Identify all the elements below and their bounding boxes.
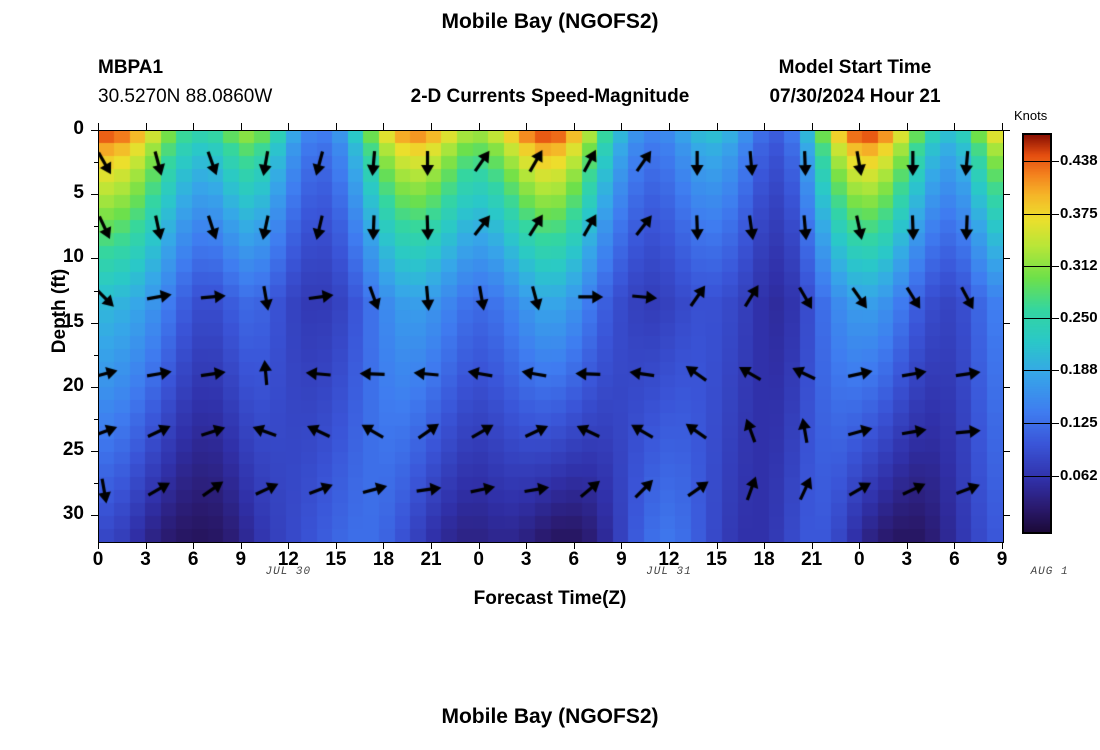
y-axis-tick-right: [1003, 323, 1010, 324]
y-axis-tick-label: 15: [40, 311, 84, 333]
colorbar-gradient: [1024, 135, 1050, 532]
x-axis-tick: [669, 542, 670, 549]
model-start-time-value: 07/30/2024 Hour 21: [700, 86, 1010, 108]
page-title: Mobile Bay (NGOFS2): [0, 10, 1100, 34]
y-axis-tick-right: [1003, 194, 1010, 195]
y-axis-tick-right: [1003, 387, 1010, 388]
x-axis-tick-top: [859, 123, 860, 130]
y-axis-minor-tick: [94, 226, 98, 227]
x-axis-tick-top: [383, 123, 384, 130]
x-axis-date-label: AUG 1: [1005, 566, 1095, 578]
colorbar-divider: [1024, 266, 1050, 267]
x-axis-tick-top: [574, 123, 575, 130]
colorbar-divider: [1024, 161, 1050, 162]
colorbar-tick: [1050, 214, 1059, 215]
x-axis-tick-top: [717, 123, 718, 130]
y-axis-minor-tick: [94, 291, 98, 292]
x-axis-title: Forecast Time(Z): [98, 588, 1002, 610]
x-axis-tick-top: [1002, 123, 1003, 130]
x-axis-tick-label: 3: [126, 549, 166, 571]
x-axis-tick-label: 6: [934, 549, 974, 571]
station-id-label: MBPA1: [98, 57, 163, 79]
x-axis-tick: [764, 542, 765, 549]
x-axis-tick-top: [241, 123, 242, 130]
x-axis-tick-label: 6: [554, 549, 594, 571]
y-axis-tick-label: 30: [40, 503, 84, 525]
colorbar-tick: [1050, 318, 1059, 319]
colorbar: [1022, 133, 1052, 534]
x-axis-tick: [812, 542, 813, 549]
colorbar-tick: [1050, 161, 1059, 162]
y-axis-minor-tick: [94, 483, 98, 484]
x-axis-tick: [907, 542, 908, 549]
footer-title: Mobile Bay (NGOFS2): [0, 705, 1100, 729]
colorbar-tick: [1050, 370, 1059, 371]
colorbar-tick-label: 0.375: [1060, 205, 1098, 222]
y-axis-tick-right: [1003, 515, 1010, 516]
colorbar-tick-label: 0.438: [1060, 152, 1098, 169]
y-axis-tick-label: 25: [40, 439, 84, 461]
x-axis-tick-label: 0: [839, 549, 879, 571]
x-axis-tick-label: 3: [506, 549, 546, 571]
x-axis-date-label: JUL 31: [624, 566, 714, 578]
colorbar-tick-label: 0.250: [1060, 309, 1098, 326]
x-axis-tick: [954, 542, 955, 549]
speed-magnitude-heatmap: [99, 131, 1003, 542]
x-axis-tick-top: [526, 123, 527, 130]
y-axis-tick: [91, 258, 98, 259]
x-axis-tick-top: [954, 123, 955, 130]
x-axis-tick-top: [146, 123, 147, 130]
colorbar-tick-label: 0.188: [1060, 361, 1098, 378]
y-axis-tick: [91, 451, 98, 452]
colorbar-tick: [1050, 476, 1059, 477]
y-axis-tick-right: [1003, 258, 1010, 259]
y-axis-tick: [91, 387, 98, 388]
colorbar-tick: [1050, 266, 1059, 267]
x-axis-tick-top: [907, 123, 908, 130]
colorbar-tick-label: 0.312: [1060, 257, 1098, 274]
x-axis-tick: [526, 542, 527, 549]
y-axis-minor-tick: [94, 419, 98, 420]
y-axis-tick-label: 5: [40, 182, 84, 204]
x-axis-tick-label: 6: [173, 549, 213, 571]
y-axis-minor-tick: [94, 355, 98, 356]
x-axis-tick-label: 18: [744, 549, 784, 571]
x-axis-tick: [1002, 542, 1003, 549]
x-axis-date-label: JUL 30: [243, 566, 333, 578]
x-axis-tick-top: [336, 123, 337, 130]
x-axis-tick: [431, 542, 432, 549]
x-axis-tick-top: [193, 123, 194, 130]
y-axis-tick: [91, 515, 98, 516]
x-axis-tick-label: 0: [78, 549, 118, 571]
y-axis-tick-label: 20: [40, 375, 84, 397]
x-axis-tick: [621, 542, 622, 549]
x-axis-tick-top: [431, 123, 432, 130]
x-axis-tick: [383, 542, 384, 549]
y-axis-minor-tick: [94, 162, 98, 163]
x-axis-tick-label: 18: [363, 549, 403, 571]
x-axis-tick-top: [479, 123, 480, 130]
x-axis-tick-label: 3: [887, 549, 927, 571]
x-axis-tick-top: [764, 123, 765, 130]
x-axis-tick-label: 21: [792, 549, 832, 571]
y-axis-tick-label: 10: [40, 246, 84, 268]
heatmap-plot-area: [98, 130, 1004, 543]
colorbar-tick-label: 0.125: [1060, 414, 1098, 431]
x-axis-tick: [98, 542, 99, 549]
x-axis-tick: [574, 542, 575, 549]
x-axis-tick: [479, 542, 480, 549]
x-axis-tick-label: 0: [459, 549, 499, 571]
colorbar-divider: [1024, 318, 1050, 319]
y-axis-tick-right: [1003, 451, 1010, 452]
x-axis-tick-top: [98, 123, 99, 130]
x-axis-tick-top: [669, 123, 670, 130]
x-axis-tick-label: 21: [411, 549, 451, 571]
colorbar-tick: [1050, 423, 1059, 424]
y-axis-tick-right: [1003, 130, 1010, 131]
colorbar-unit-label: Knots: [1014, 108, 1047, 123]
y-axis-tick-label: 0: [40, 118, 84, 140]
y-axis-tick: [91, 130, 98, 131]
colorbar-divider: [1024, 423, 1050, 424]
model-start-time-label: Model Start Time: [700, 57, 1010, 79]
x-axis-tick: [717, 542, 718, 549]
colorbar-divider: [1024, 370, 1050, 371]
x-axis-tick-top: [288, 123, 289, 130]
x-axis-tick: [241, 542, 242, 549]
colorbar-divider: [1024, 476, 1050, 477]
x-axis-tick: [193, 542, 194, 549]
x-axis-tick-top: [621, 123, 622, 130]
x-axis-tick: [859, 542, 860, 549]
x-axis-tick: [146, 542, 147, 549]
x-axis-tick: [336, 542, 337, 549]
colorbar-tick-label: 0.062: [1060, 467, 1098, 484]
x-axis-tick: [288, 542, 289, 549]
x-axis-tick-top: [812, 123, 813, 130]
colorbar-divider: [1024, 214, 1050, 215]
y-axis-tick: [91, 323, 98, 324]
y-axis-tick: [91, 194, 98, 195]
